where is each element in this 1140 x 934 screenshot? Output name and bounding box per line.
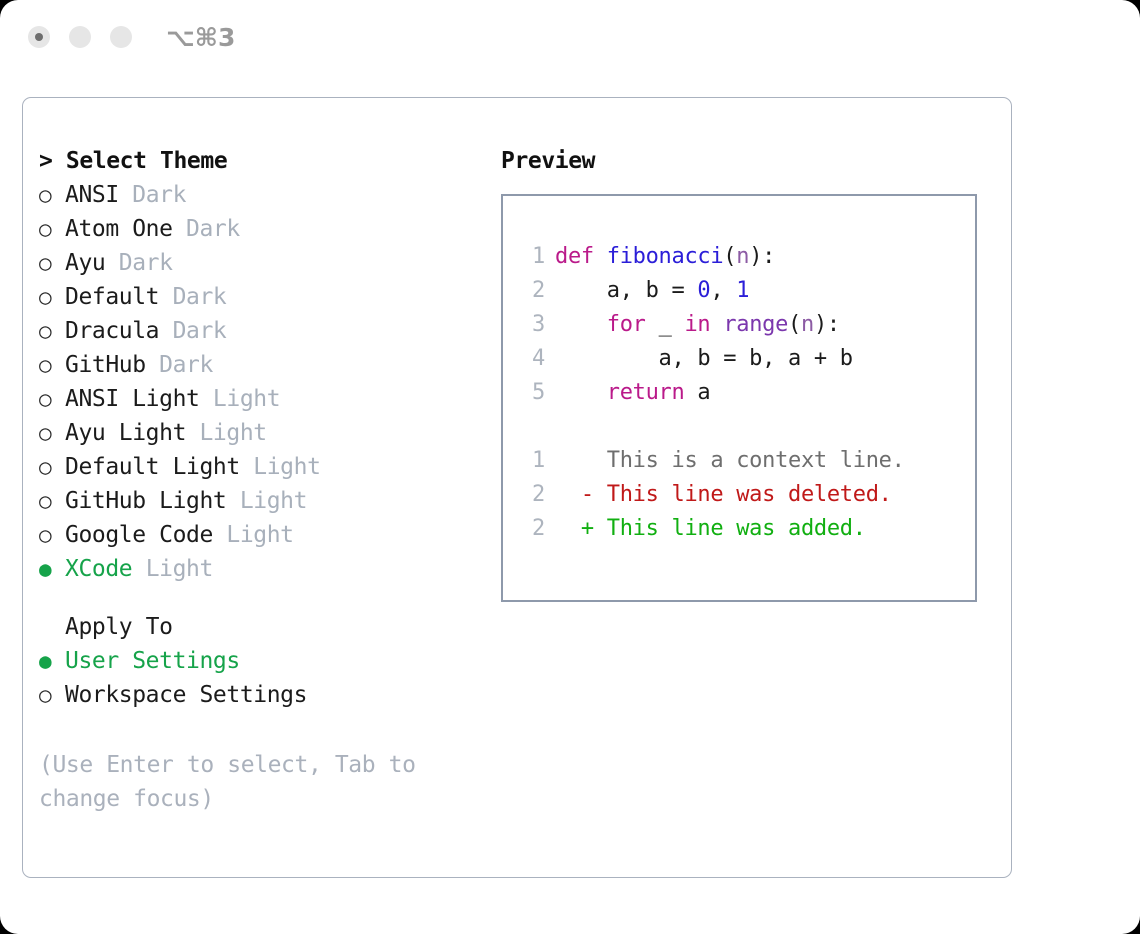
theme-option-label: Ayu Light bbox=[65, 416, 186, 450]
window-dot-second[interactable] bbox=[69, 26, 91, 48]
code-diff-spacer bbox=[503, 410, 975, 444]
diff-marker: - bbox=[581, 482, 594, 507]
theme-option-github-light[interactable]: ○GitHub Light Light bbox=[39, 484, 479, 518]
theme-option-label: GitHub bbox=[65, 348, 146, 382]
theme-option-tag: Light bbox=[240, 450, 321, 484]
diff-line-number: 2 bbox=[521, 478, 545, 512]
radio-unselected-icon: ○ bbox=[39, 212, 65, 246]
code-sample: 1def fibonacci(n):2 a, b = 0, 13 for _ i… bbox=[503, 240, 975, 410]
theme-option-ansi-light[interactable]: ○ANSI Light Light bbox=[39, 382, 479, 416]
code-token bbox=[710, 312, 723, 337]
code-token: a, b = b, a + b bbox=[555, 346, 853, 371]
code-token: n bbox=[801, 312, 814, 337]
theme-option-ayu[interactable]: ○Ayu Dark bbox=[39, 246, 479, 280]
diff-line-number: 1 bbox=[521, 444, 545, 478]
main-panel: > Select Theme ○ANSI Dark○Atom One Dark○… bbox=[22, 97, 1012, 878]
window-dot-third[interactable] bbox=[110, 26, 132, 48]
theme-option-label: ANSI bbox=[65, 178, 119, 212]
code-line: 5 return a bbox=[503, 376, 975, 410]
diff-line: 1 This is a context line. bbox=[503, 444, 975, 478]
theme-option-label: XCode bbox=[65, 552, 132, 586]
theme-option-label: Google Code bbox=[65, 518, 213, 552]
radio-unselected-icon: ○ bbox=[39, 518, 65, 552]
keyboard-shortcut-label: ⌥⌘3 bbox=[166, 23, 235, 52]
code-token: in bbox=[684, 312, 710, 337]
diff-sample: 1 This is a context line.2 - This line w… bbox=[503, 444, 975, 546]
code-line-number: 1 bbox=[521, 240, 545, 274]
theme-option-ayu-light[interactable]: ○Ayu Light Light bbox=[39, 416, 479, 450]
diff-line-number: 2 bbox=[521, 512, 545, 546]
radio-unselected-icon: ○ bbox=[39, 280, 65, 314]
code-token: 0 bbox=[697, 278, 710, 303]
theme-option-label: Atom One bbox=[65, 212, 173, 246]
theme-option-default[interactable]: ○Default Dark bbox=[39, 280, 479, 314]
code-token: ): bbox=[749, 244, 775, 269]
radio-unselected-icon: ○ bbox=[39, 450, 65, 484]
code-token bbox=[555, 312, 607, 337]
apply-to-option-label: Workspace Settings bbox=[65, 678, 307, 712]
radio-selected-icon: ● bbox=[39, 552, 65, 586]
code-token: fibonacci bbox=[607, 244, 724, 269]
radio-unselected-icon: ○ bbox=[39, 678, 65, 712]
section-spacer bbox=[39, 586, 479, 610]
diff-marker: + bbox=[581, 516, 594, 541]
apply-to-heading: Apply To bbox=[39, 610, 479, 644]
diff-gutter-space bbox=[555, 516, 581, 541]
window-dot-active-indicator bbox=[35, 33, 43, 41]
keyboard-hint: (Use Enter to select, Tab to change focu… bbox=[39, 748, 449, 816]
apply-to-list: ●User Settings○Workspace Settings bbox=[39, 644, 479, 712]
theme-option-tag: Dark bbox=[146, 348, 213, 382]
code-token: , bbox=[710, 278, 736, 303]
diff-line: 2 + This line was added. bbox=[503, 512, 975, 546]
apply-to-option-user-settings[interactable]: ●User Settings bbox=[39, 644, 479, 678]
preview-box: 1def fibonacci(n):2 a, b = 0, 13 for _ i… bbox=[501, 194, 977, 602]
code-token: a bbox=[684, 380, 710, 405]
theme-option-label: GitHub Light bbox=[65, 484, 226, 518]
code-token: def bbox=[555, 244, 607, 269]
theme-option-tag: Dark bbox=[159, 280, 226, 314]
code-token: 1 bbox=[736, 278, 749, 303]
code-line: 3 for _ in range(n): bbox=[503, 308, 975, 342]
window-dot-active[interactable] bbox=[28, 26, 50, 48]
diff-text: This is a context line. bbox=[594, 448, 905, 473]
theme-option-label: Default bbox=[65, 280, 159, 314]
radio-unselected-icon: ○ bbox=[39, 416, 65, 450]
theme-option-label: ANSI Light bbox=[65, 382, 199, 416]
code-line: 4 a, b = b, a + b bbox=[503, 342, 975, 376]
radio-unselected-icon: ○ bbox=[39, 178, 65, 212]
theme-picker-column: > Select Theme ○ANSI Dark○Atom One Dark○… bbox=[39, 144, 479, 816]
code-token bbox=[555, 380, 607, 405]
window-controls bbox=[28, 26, 132, 48]
code-line-number: 4 bbox=[521, 342, 545, 376]
diff-marker bbox=[581, 448, 594, 473]
code-token: a, b = bbox=[555, 278, 697, 303]
code-token: n bbox=[736, 244, 749, 269]
theme-option-tag: Light bbox=[226, 484, 307, 518]
diff-gutter-space bbox=[555, 482, 581, 507]
theme-list: ○ANSI Dark○Atom One Dark○Ayu Dark○Defaul… bbox=[39, 178, 479, 586]
code-line-number: 3 bbox=[521, 308, 545, 342]
theme-option-tag: Dark bbox=[173, 212, 240, 246]
select-theme-heading: > Select Theme bbox=[39, 144, 479, 178]
diff-text: This line was added. bbox=[594, 516, 866, 541]
theme-option-tag: Light bbox=[213, 518, 294, 552]
theme-option-label: Ayu bbox=[65, 246, 105, 280]
code-token: ( bbox=[723, 244, 736, 269]
theme-option-google-code[interactable]: ○Google Code Light bbox=[39, 518, 479, 552]
code-line: 2 a, b = 0, 1 bbox=[503, 274, 975, 308]
preview-heading: Preview bbox=[501, 144, 991, 178]
apply-to-option-label: User Settings bbox=[65, 644, 240, 678]
code-line-number: 2 bbox=[521, 274, 545, 308]
theme-option-label: Dracula bbox=[65, 314, 159, 348]
theme-option-atom-one[interactable]: ○Atom One Dark bbox=[39, 212, 479, 246]
radio-unselected-icon: ○ bbox=[39, 246, 65, 280]
radio-unselected-icon: ○ bbox=[39, 382, 65, 416]
theme-option-tag: Dark bbox=[159, 314, 226, 348]
theme-option-ansi[interactable]: ○ANSI Dark bbox=[39, 178, 479, 212]
title-bar: ⌥⌘3 bbox=[0, 0, 1140, 80]
code-token: _ bbox=[646, 312, 685, 337]
code-token: range bbox=[723, 312, 788, 337]
code-line-number: 5 bbox=[521, 376, 545, 410]
radio-selected-icon: ● bbox=[39, 644, 65, 678]
theme-option-tag: Light bbox=[199, 382, 280, 416]
app-window: ⌥⌘3 > Select Theme ○ANSI Dark○Atom One D… bbox=[0, 0, 1140, 934]
code-token: ): bbox=[814, 312, 840, 337]
diff-line: 2 - This line was deleted. bbox=[503, 478, 975, 512]
theme-option-label: Default Light bbox=[65, 450, 240, 484]
theme-option-default-light[interactable]: ○Default Light Light bbox=[39, 450, 479, 484]
diff-gutter-space bbox=[555, 448, 581, 473]
theme-option-tag: Light bbox=[132, 552, 213, 586]
code-line: 1def fibonacci(n): bbox=[503, 240, 975, 274]
diff-text: This line was deleted. bbox=[594, 482, 892, 507]
code-token: ( bbox=[788, 312, 801, 337]
theme-option-dracula[interactable]: ○Dracula Dark bbox=[39, 314, 479, 348]
theme-option-tag: Dark bbox=[105, 246, 172, 280]
theme-option-github[interactable]: ○GitHub Dark bbox=[39, 348, 479, 382]
radio-unselected-icon: ○ bbox=[39, 314, 65, 348]
apply-to-option-workspace-settings[interactable]: ○Workspace Settings bbox=[39, 678, 479, 712]
theme-option-tag: Light bbox=[186, 416, 267, 450]
preview-column: Preview 1def fibonacci(n):2 a, b = 0, 13… bbox=[501, 144, 991, 602]
theme-option-tag: Dark bbox=[119, 178, 186, 212]
code-token: for bbox=[607, 312, 646, 337]
code-token: return bbox=[607, 380, 685, 405]
radio-unselected-icon: ○ bbox=[39, 348, 65, 382]
theme-option-xcode[interactable]: ●XCode Light bbox=[39, 552, 479, 586]
radio-unselected-icon: ○ bbox=[39, 484, 65, 518]
